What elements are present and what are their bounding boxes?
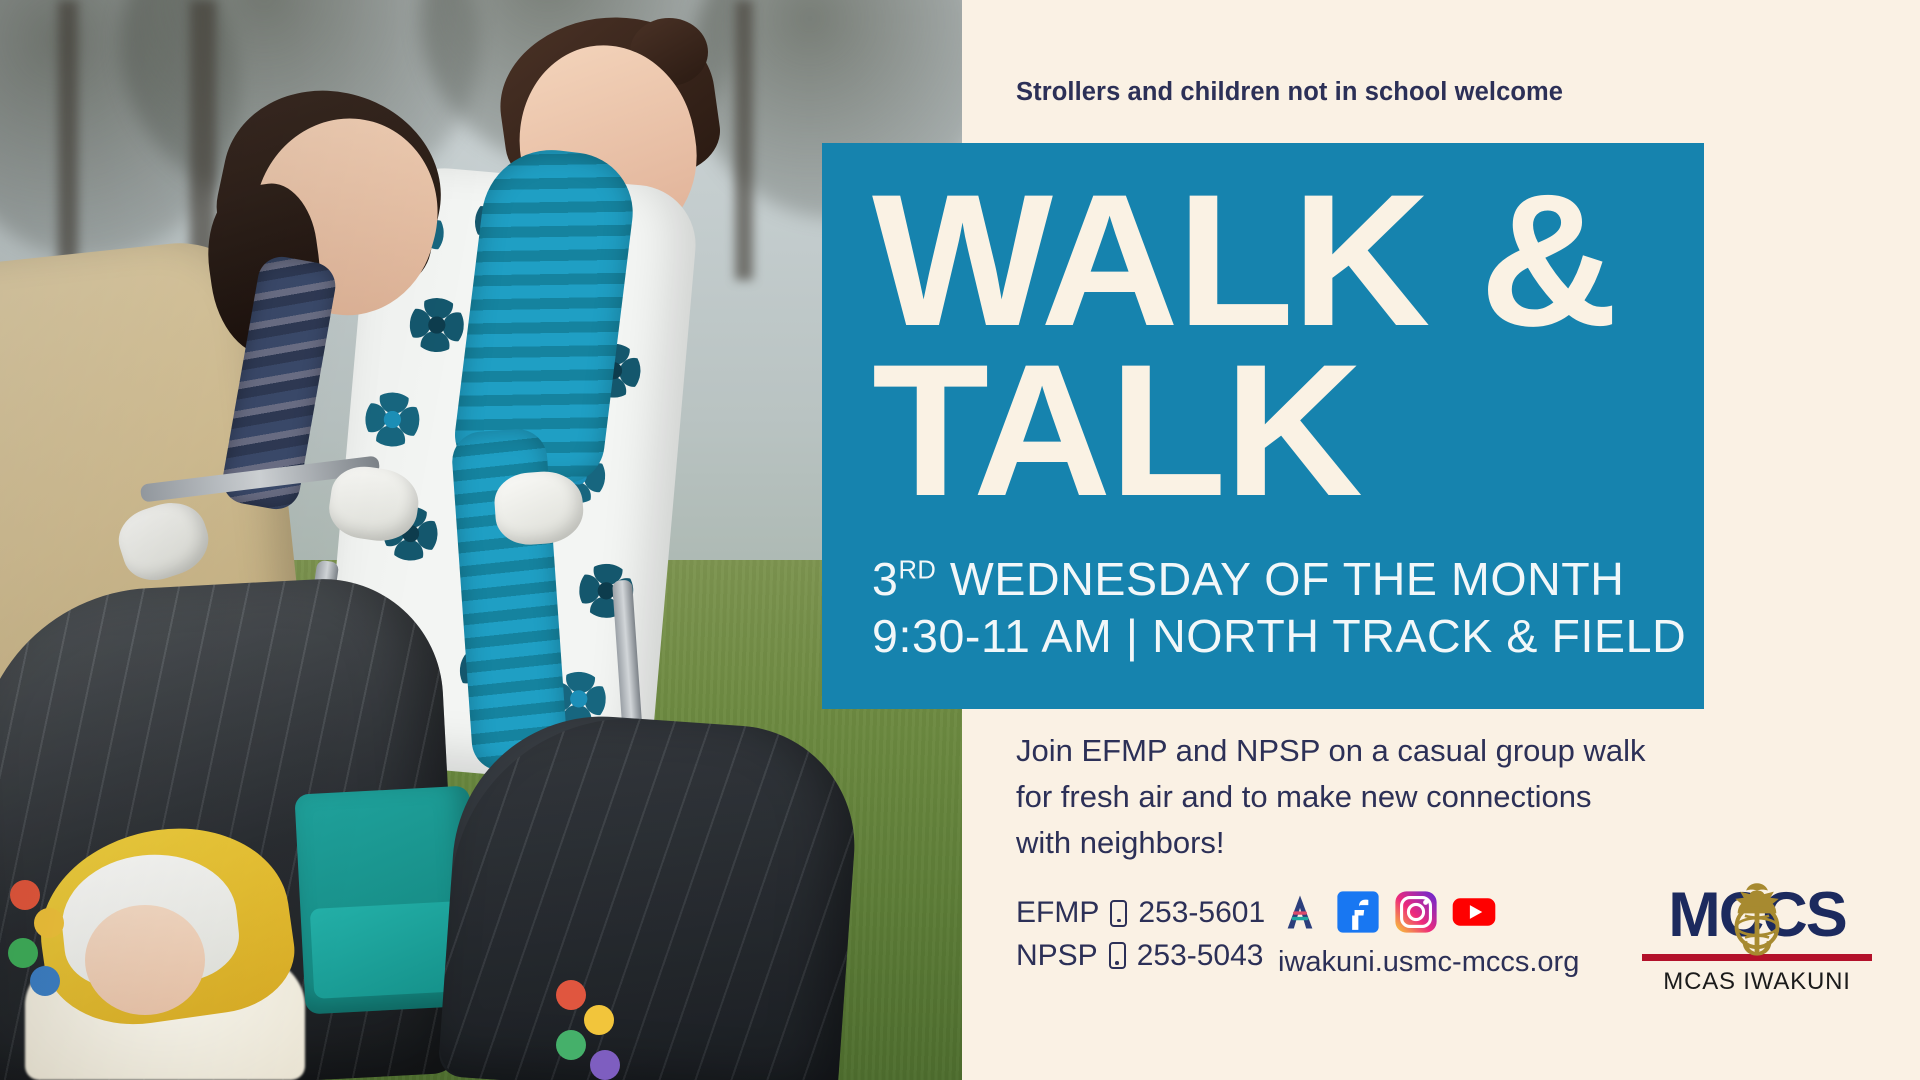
mobile-phone-icon bbox=[1110, 900, 1127, 927]
title-block: WALK & TALK 3RD WEDNESDAY OF THE MONTH 9… bbox=[822, 143, 1704, 709]
body-copy-line-3: with neighbors! bbox=[1016, 820, 1776, 866]
photo-toy bbox=[8, 938, 38, 968]
photo-stroller bbox=[438, 706, 863, 1080]
photo-toy bbox=[590, 1050, 620, 1080]
photo-tree-trunk bbox=[735, 0, 753, 280]
photo-baby-face bbox=[85, 905, 205, 1015]
social-icons bbox=[1278, 888, 1578, 936]
contact-number[interactable]: 253-5601 bbox=[1138, 892, 1265, 935]
contact-label: NPSP bbox=[1016, 935, 1098, 978]
event-day-line: 3RD WEDNESDAY OF THE MONTH bbox=[872, 551, 1686, 608]
body-copy-line-1: Join EFMP and NPSP on a casual group wal… bbox=[1016, 728, 1776, 774]
event-time-location-line: 9:30-11 AM | NORTH TRACK & FIELD bbox=[872, 608, 1686, 665]
social-block: iwakuni.usmc-mccs.org bbox=[1278, 888, 1578, 979]
tagline: Strollers and children not in school wel… bbox=[1016, 78, 1563, 107]
photo-toy bbox=[34, 908, 64, 938]
photo-toy bbox=[584, 1005, 614, 1035]
event-details: 3RD WEDNESDAY OF THE MONTH 9:30-11 AM | … bbox=[872, 551, 1686, 665]
contact-label: EFMP bbox=[1016, 892, 1099, 935]
photo-toy bbox=[30, 966, 60, 996]
content-panel: Strollers and children not in school wel… bbox=[962, 0, 1920, 1080]
photo-toy bbox=[556, 1030, 586, 1060]
title-line-1: WALK & bbox=[872, 173, 1616, 348]
footer: EFMP 253-5601 NPSP 253-5043 bbox=[962, 888, 1920, 1028]
contact-list: EFMP 253-5601 NPSP 253-5043 bbox=[1016, 892, 1265, 977]
body-copy: Join EFMP and NPSP on a casual group wal… bbox=[1016, 728, 1776, 866]
title-line-2: TALK bbox=[872, 343, 1361, 518]
photo-diaper-bag-flap bbox=[310, 901, 465, 999]
contact-row-npsp: NPSP 253-5043 bbox=[1016, 935, 1265, 978]
mccs-app-icon[interactable] bbox=[1278, 890, 1322, 934]
photo-toy bbox=[556, 980, 586, 1010]
event-day-number: 3 bbox=[872, 553, 898, 605]
body-copy-line-2: for fresh air and to make new connection… bbox=[1016, 774, 1776, 820]
facebook-icon[interactable] bbox=[1336, 890, 1380, 934]
instagram-icon[interactable] bbox=[1394, 890, 1438, 934]
eagle-globe-anchor-icon bbox=[1718, 876, 1796, 958]
photo-toy bbox=[10, 880, 40, 910]
contact-row-efmp: EFMP 253-5601 bbox=[1016, 892, 1265, 935]
mobile-phone-icon bbox=[1109, 942, 1126, 969]
hero-photo bbox=[0, 0, 962, 1080]
youtube-icon[interactable] bbox=[1452, 890, 1496, 934]
contact-number[interactable]: 253-5043 bbox=[1137, 935, 1264, 978]
mccs-subtitle: MCAS IWAKUNI bbox=[1642, 968, 1872, 996]
mccs-wordmark: MCCS bbox=[1642, 884, 1872, 950]
event-day-rest: WEDNESDAY OF THE MONTH bbox=[936, 553, 1624, 605]
mccs-logo: MCCS MCAS bbox=[1642, 884, 1872, 996]
event-day-ordinal: RD bbox=[898, 557, 936, 585]
website-url[interactable]: iwakuni.usmc-mccs.org bbox=[1278, 946, 1578, 979]
